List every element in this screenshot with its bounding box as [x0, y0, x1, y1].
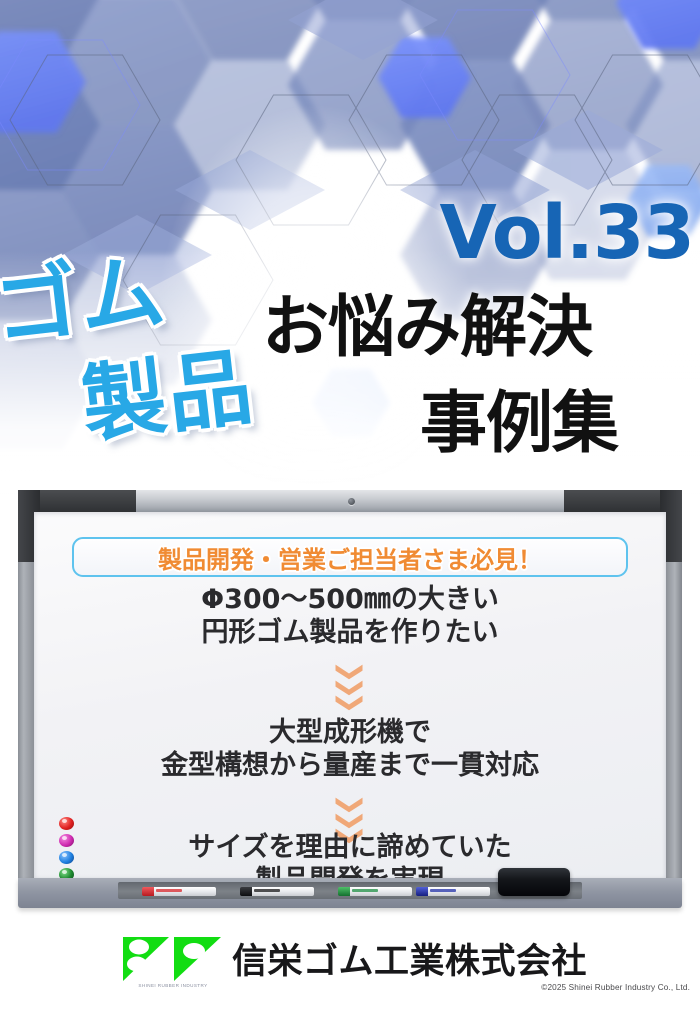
marker-cap: [240, 887, 252, 896]
marker-band: [430, 889, 456, 892]
whiteboard: 製品開発・営業ご担当者さま必見！ Φ300〜500㎜の大きい 円形ゴム製品を作り…: [18, 490, 682, 922]
green-marker[interactable]: [338, 887, 412, 896]
marker-cap: [416, 887, 428, 896]
company-name: 信栄ゴム工業株式会社: [232, 933, 587, 984]
black-marker[interactable]: [240, 887, 314, 896]
whiteboard-surface: 製品開発・営業ご担当者さま必見！ Φ300〜500㎜の大きい 円形ゴム製品を作り…: [34, 512, 666, 880]
copyright-notice: ©2025 Shinei Rubber Industry Co., Ltd.: [541, 983, 690, 992]
magnet-blue: [59, 851, 74, 864]
marker-cap: [142, 887, 154, 896]
marker-cap: [338, 887, 350, 896]
red-marker[interactable]: [142, 887, 216, 896]
page-title-line-2: 事例集: [420, 390, 618, 457]
magnet-magenta: [59, 834, 74, 847]
magnet-red: [59, 817, 74, 830]
volume-label: Vol.33: [439, 196, 694, 270]
marker-band: [352, 889, 378, 892]
marker-band: [156, 889, 182, 892]
kicker-line-1: ゴム: [0, 253, 170, 349]
result-line-1: サイズを理由に諦めていた: [34, 832, 666, 865]
kicker-line-2: 製品: [78, 349, 258, 445]
whiteboard-frame: 製品開発・営業ご担当者さま必見！ Φ300〜500㎜の大きい 円形ゴム製品を作り…: [18, 490, 682, 902]
page-title-line-1: お悩み解決: [262, 294, 592, 361]
footer: SHINEI RUBBER INDUSTRY 信栄ゴム工業株式会社 ©2025 …: [0, 925, 700, 1011]
poster-page: Vol.33 ゴム 製品 お悩み解決 事例集 製品開発・営業ご担当者さま必見！: [0, 0, 700, 1011]
shinei-rubber-logo: [122, 935, 224, 985]
marker-band: [254, 889, 280, 892]
logo-tagline: SHINEI RUBBER INDUSTRY: [122, 983, 224, 988]
whiteboard-eraser[interactable]: [498, 868, 570, 896]
blue-marker[interactable]: [416, 887, 490, 896]
